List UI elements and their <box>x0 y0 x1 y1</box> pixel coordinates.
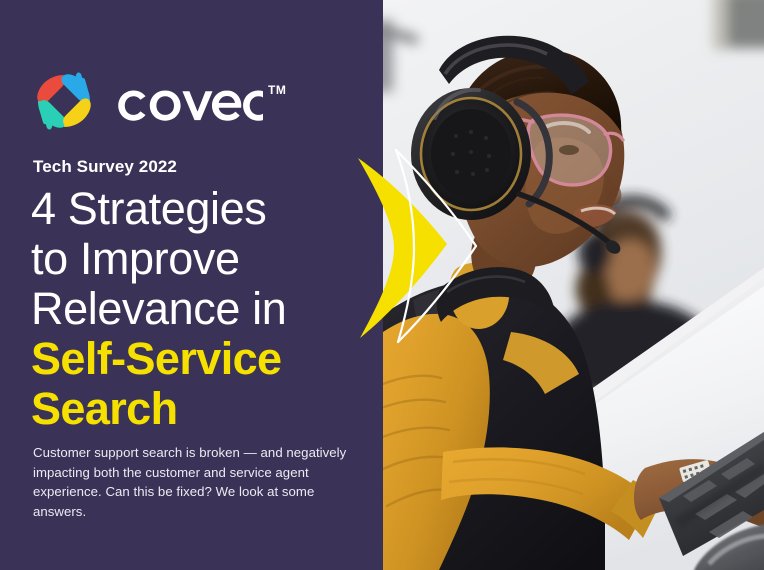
headline-line-2: to Improve <box>31 234 371 284</box>
coveo-circular-hands-logo <box>33 70 95 132</box>
headline-line-3: Relevance in <box>31 284 371 334</box>
eyebrow-label: Tech Survey 2022 <box>33 158 177 177</box>
subtitle-description: Customer support search is broken — and … <box>33 443 363 521</box>
poster-cover: TM Tech Survey 2022 4 Strategies to Impr… <box>0 0 764 570</box>
headline-accent-line-1: Self-Service <box>31 334 371 384</box>
headline-accent-line-2: Search <box>31 384 371 434</box>
trademark-symbol: TM <box>268 84 286 96</box>
coveo-wordmark: TM <box>111 78 286 124</box>
coveo-logo[interactable]: TM <box>33 68 286 134</box>
headline-line-1: 4 Strategies <box>31 184 371 234</box>
page-title: 4 Strategies to Improve Relevance in Sel… <box>31 184 371 434</box>
hero-photo <box>383 0 764 570</box>
